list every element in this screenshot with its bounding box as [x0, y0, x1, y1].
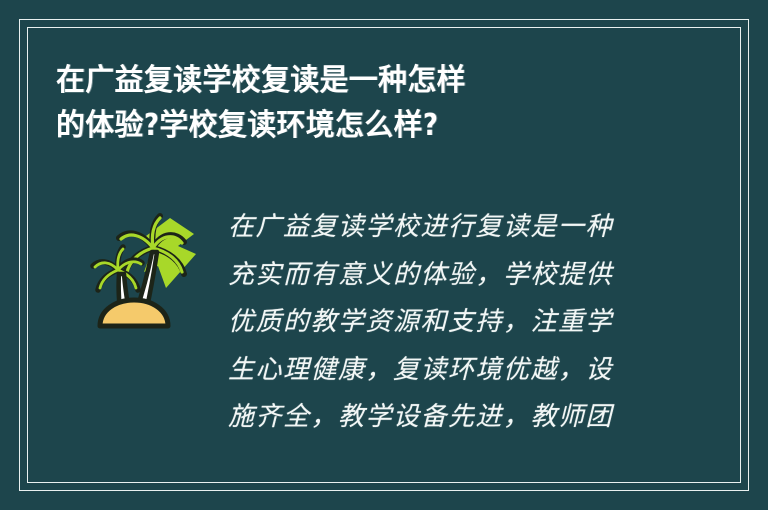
title-line-2: 的体验?学校复读环境怎么样? — [56, 103, 670, 148]
page-title: 在广益复读学校复读是一种怎样 的体验?学校复读环境怎么样? — [56, 58, 696, 148]
body-line: 优质的教学资源和支持，注重学 — [228, 299, 648, 347]
body-line: 生心理健康，复读环境优越，设 — [228, 347, 648, 395]
content-row: 在广益复读学校进行复读是一种 充实而有意义的体验，学校提供 优质的教学资源和支持… — [0, 196, 768, 496]
title-line-1: 在广益复读学校复读是一种怎样 — [56, 58, 670, 103]
body-line: 充实而有意义的体验，学校提供 — [228, 252, 648, 300]
article-card: 在广益复读学校复读是一种怎样 的体验?学校复读环境怎么样? — [0, 0, 768, 510]
body-line: 施齐全，教学设备先进，教师团 — [228, 394, 648, 442]
body-line: 在广益复读学校进行复读是一种 — [228, 204, 648, 252]
body-paragraph: 在广益复读学校进行复读是一种 充实而有意义的体验，学校提供 优质的教学资源和支持… — [228, 204, 648, 442]
palm-tree-island-icon — [74, 202, 206, 342]
